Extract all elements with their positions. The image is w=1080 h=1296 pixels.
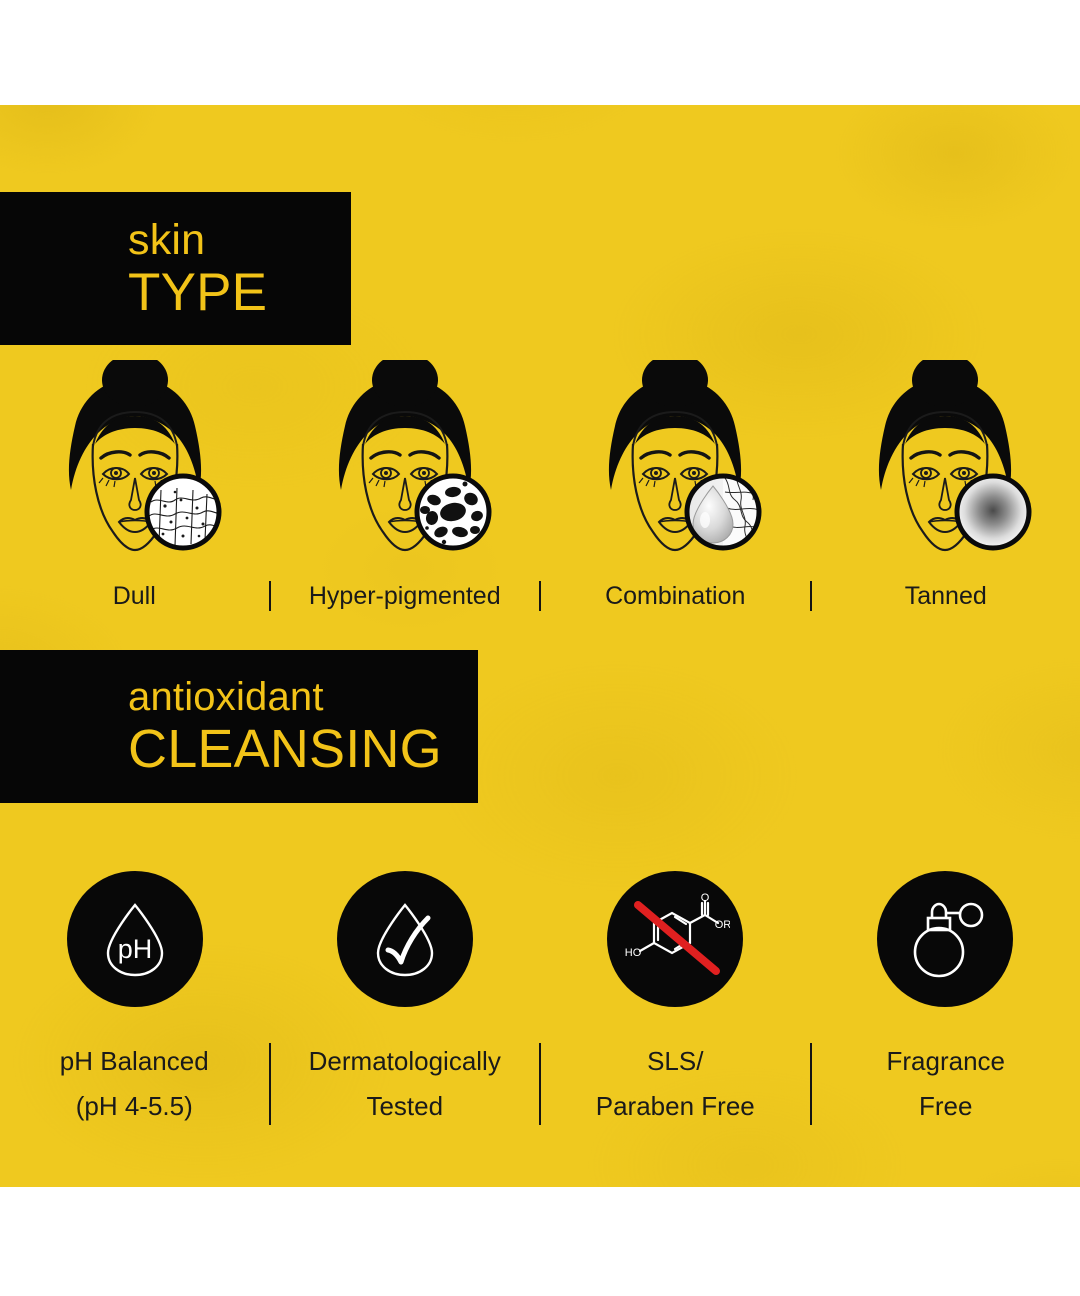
skin-type-heading-line-b: TYPE: [128, 266, 351, 319]
skin-type-label-combination: Combination: [541, 573, 810, 619]
face-cell-dull: [0, 360, 270, 570]
skin-type-heading-block: skin TYPE: [0, 192, 351, 345]
face-tanned-illustration: [845, 360, 1045, 570]
cleansing-labels-row: pH Balanced (pH 4-5.5) Dermatologically …: [0, 1036, 1080, 1132]
face-dull-illustration: [35, 360, 235, 570]
cleansing-badges-row: pH: [0, 868, 1080, 1010]
skin-type-label-hyperpigmented: Hyper-pigmented: [271, 573, 540, 619]
molecule-label-ho: HO: [625, 947, 642, 959]
skin-type-label-tanned: Tanned: [812, 573, 1080, 619]
molecule-label-o: O: [701, 893, 710, 904]
no-fragrance-perfume-bottle-icon: [899, 896, 991, 982]
cleansing-label-line-1: SLS/: [647, 1039, 703, 1085]
face-combination-illustration: [575, 360, 775, 570]
ph-droplet-icon: pH: [92, 896, 178, 982]
skin-type-labels-row: Dull Hyper-pigmented Combination Tanned: [0, 573, 1080, 619]
molecule-label-or: OR: [715, 919, 730, 931]
skin-type-heading-line-a: skin: [128, 219, 351, 262]
cleansing-label-ph-balanced: pH Balanced (pH 4-5.5): [0, 1036, 269, 1132]
antioxidant-cleansing-heading-block: antioxidant CLEANSING: [0, 650, 478, 803]
cleansing-label-line-2: (pH 4-5.5): [76, 1084, 193, 1130]
droplet-check-icon: [362, 896, 448, 982]
ph-icon-text: pH: [118, 934, 153, 964]
cleansing-label-fragrance-free: Fragrance Free: [812, 1036, 1080, 1132]
badge-ph-balanced: pH: [67, 871, 203, 1007]
badge-cell-ph-balanced: pH: [0, 868, 270, 1010]
face-cell-hyperpigmented: [270, 360, 540, 570]
cleansing-label-line-2: Free: [919, 1084, 972, 1130]
cleansing-label-line-1: Dermatologically: [309, 1039, 501, 1085]
face-cell-combination: [540, 360, 810, 570]
infographic-page: skin TYPE: [0, 0, 1080, 1296]
badge-cell-sls-paraben-free: HO O OR: [540, 868, 810, 1010]
cleansing-label-line-1: pH Balanced: [60, 1039, 209, 1085]
cleansing-label-line-1: Fragrance: [887, 1039, 1006, 1085]
badge-cell-fragrance-free: [810, 868, 1080, 1010]
skin-type-faces-row: [0, 360, 1080, 570]
cleansing-label-line-2: Tested: [366, 1084, 443, 1130]
skin-type-label-dull: Dull: [0, 573, 269, 619]
badge-cell-dermatologically-tested: [270, 868, 540, 1010]
cleansing-label-sls-paraben-free: SLS/ Paraben Free: [541, 1036, 810, 1132]
badge-sls-paraben-free: HO O OR: [607, 871, 743, 1007]
cleansing-heading-line-a: antioxidant: [128, 677, 478, 717]
face-cell-tanned: [810, 360, 1080, 570]
badge-dermatologically-tested: [337, 871, 473, 1007]
face-hyperpigmented-illustration: [305, 360, 505, 570]
no-paraben-molecule-icon: HO O OR: [620, 893, 730, 985]
cleansing-label-line-2: Paraben Free: [596, 1084, 755, 1130]
cleansing-label-dermatologically-tested: Dermatologically Tested: [271, 1036, 540, 1132]
cleansing-heading-line-b: CLEANSING: [128, 722, 478, 776]
badge-fragrance-free: [877, 871, 1013, 1007]
